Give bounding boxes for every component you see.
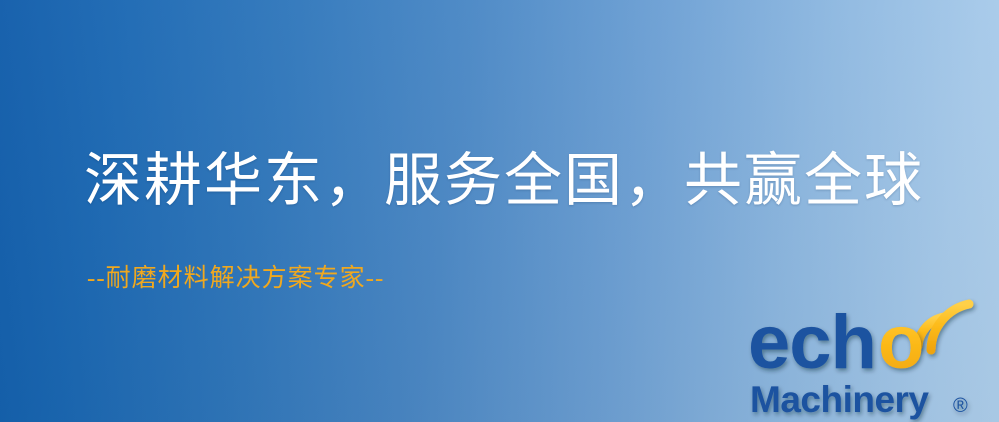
- logo-wordmark-o: o: [878, 300, 924, 385]
- logo-wordmark-ech: ech: [748, 300, 876, 385]
- logo-registered-mark: ®: [953, 395, 968, 417]
- promo-banner: 深耕华东，服务全国，共赢全球 --耐磨材料解决方案专家-- e: [0, 0, 999, 422]
- banner-headline: 深耕华东，服务全国，共赢全球: [84, 152, 924, 210]
- echo-machinery-logo: ech o Machinery ®: [748, 298, 996, 422]
- signal-arc-icon: [918, 304, 969, 350]
- logo-tagline: Machinery: [750, 379, 929, 420]
- banner-subtitle: --耐磨材料解决方案专家--: [87, 266, 384, 291]
